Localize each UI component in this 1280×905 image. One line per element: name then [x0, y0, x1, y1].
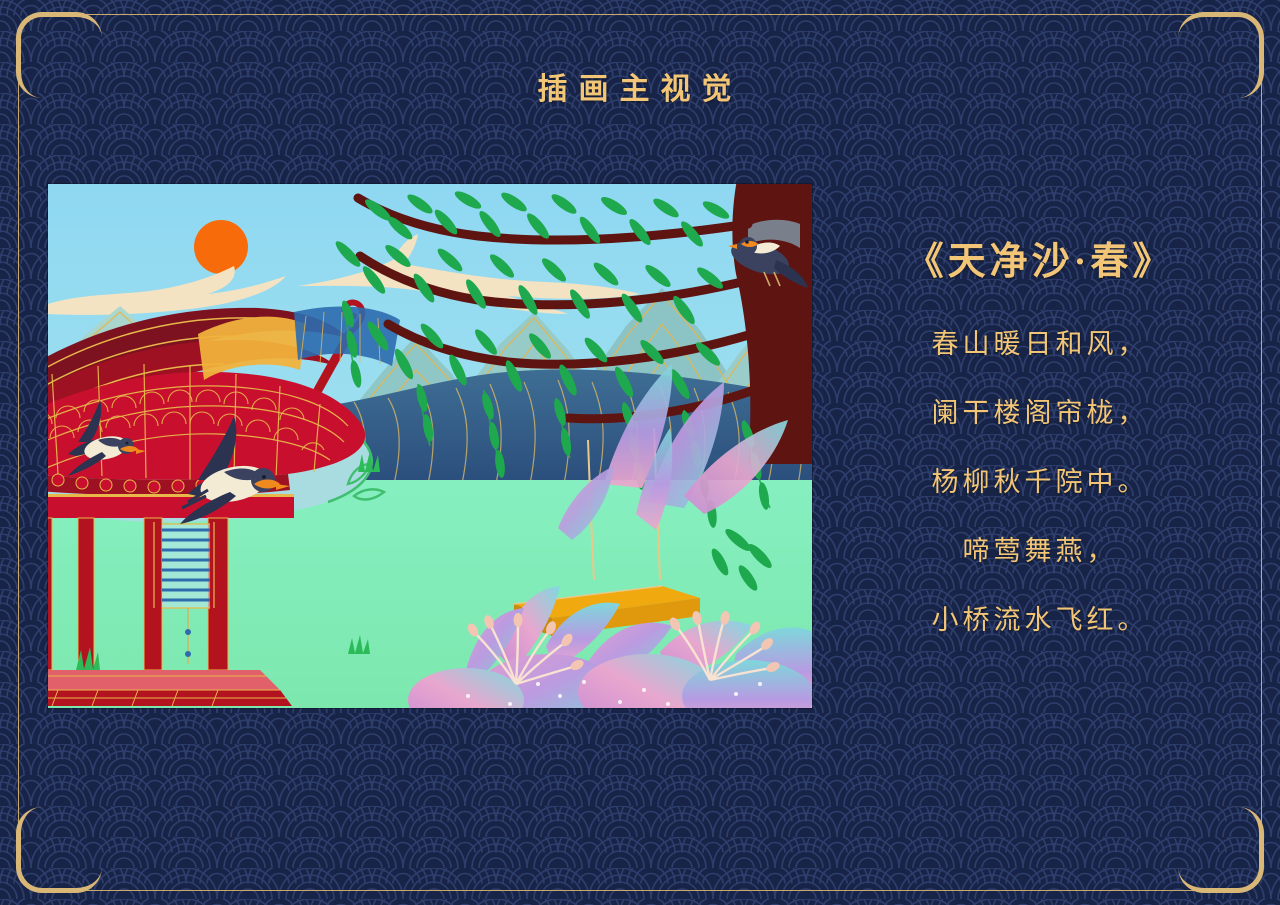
poem-line-1: 春山暖日和风， — [860, 331, 1220, 358]
poster-canvas: 插画主视觉 — [0, 0, 1280, 905]
page-title: 插画主视觉 — [0, 64, 1280, 108]
poem-line-4: 啼莺舞燕， — [860, 538, 1220, 565]
poem-line-2: 阑干楼阁帘栊， — [860, 400, 1220, 427]
sun-icon — [194, 220, 248, 274]
poem-block: 《天净沙·春》 春山暖日和风， 阑干楼阁帘栊， 杨柳秋千院中。 啼莺舞燕， 小桥… — [860, 230, 1220, 634]
poem-heading: 《天净沙·春》 — [860, 230, 1220, 285]
poem-line-3: 杨柳秋千院中。 — [860, 469, 1220, 496]
poem-line-5: 小桥流水飞红。 — [860, 607, 1220, 634]
illustration-artwork — [48, 184, 812, 708]
